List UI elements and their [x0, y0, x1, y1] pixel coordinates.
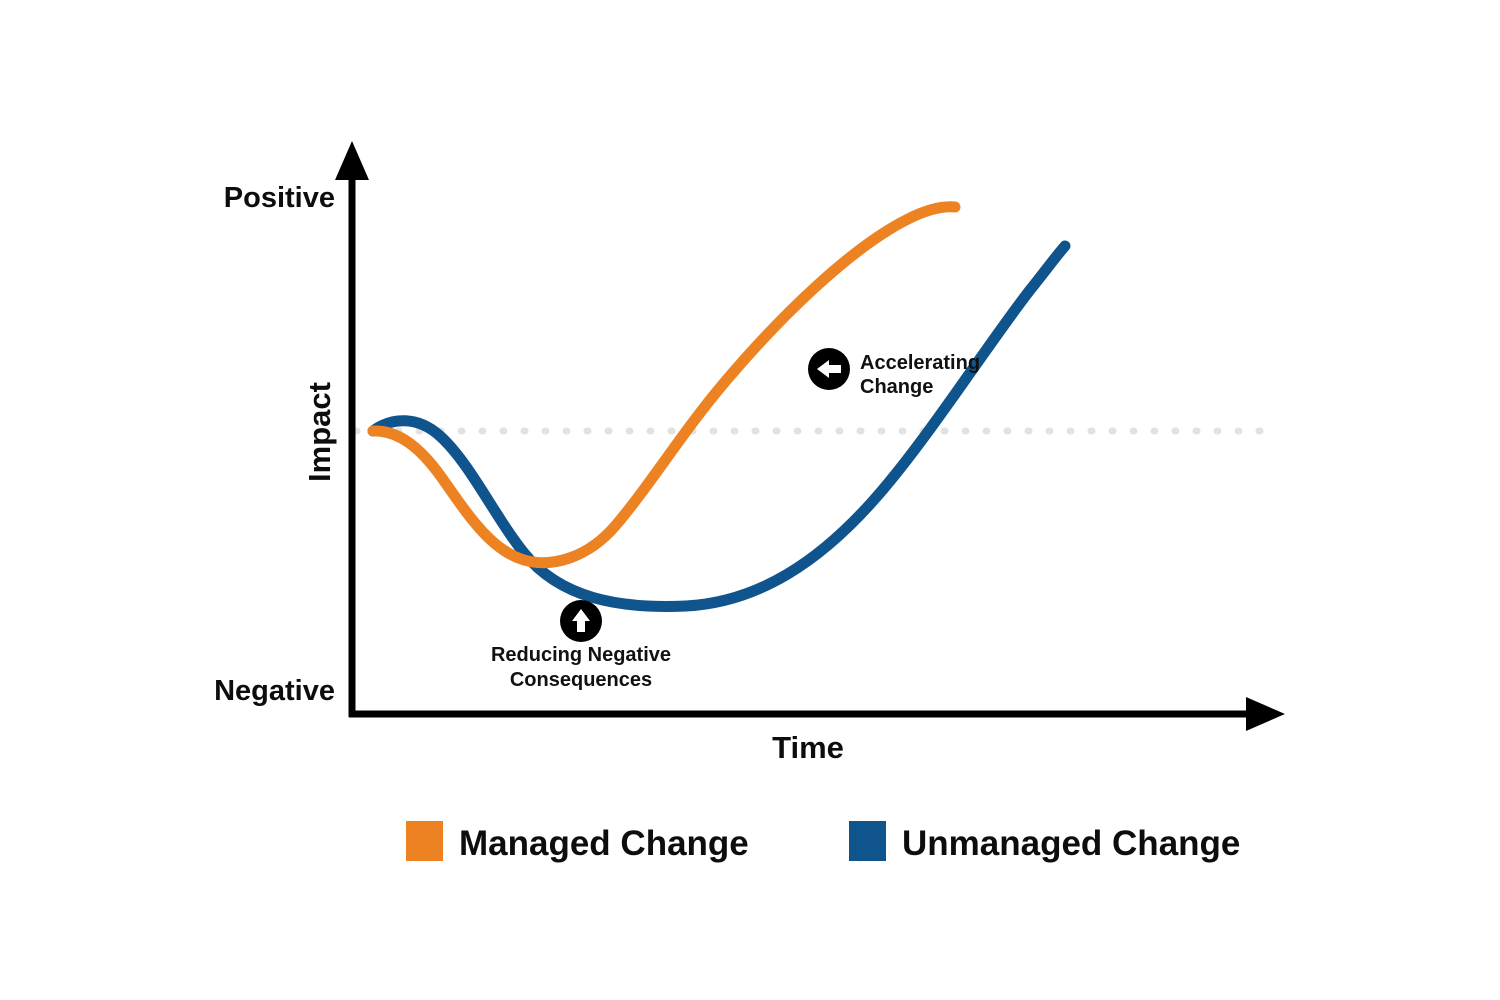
- change-curve-chart: Positive Negative Impact Time Reducing N…: [0, 0, 1500, 1000]
- chart-canvas: Positive Negative Impact Time Reducing N…: [0, 0, 1500, 1000]
- annotation-line2: Consequences: [510, 669, 652, 691]
- y-axis-negative-label: Negative: [214, 675, 335, 707]
- legend-swatch: [406, 821, 443, 861]
- series-line-unmanaged-change: [373, 246, 1065, 606]
- legend-label: Unmanaged Change: [902, 824, 1240, 863]
- x-axis-arrowhead: [1246, 697, 1285, 731]
- chart-legend: Managed Change Unmanaged Change: [406, 821, 1240, 863]
- legend-item-managed-change[interactable]: Managed Change: [406, 821, 749, 863]
- legend-swatch: [849, 821, 886, 861]
- legend-label: Managed Change: [459, 824, 749, 863]
- annotation-line2: Change: [860, 376, 933, 398]
- y-axis-positive-label: Positive: [224, 182, 335, 214]
- y-axis-title: Impact: [302, 382, 337, 482]
- y-axis-arrowhead: [335, 141, 369, 180]
- annotation-line1: Accelerating: [860, 352, 980, 374]
- legend-item-unmanaged-change[interactable]: Unmanaged Change: [849, 821, 1240, 863]
- annotation-line1: Reducing Negative: [491, 644, 671, 666]
- annotation-reducing-negative-consequences: Reducing Negative Consequences: [491, 600, 671, 691]
- x-axis-title: Time: [772, 730, 844, 765]
